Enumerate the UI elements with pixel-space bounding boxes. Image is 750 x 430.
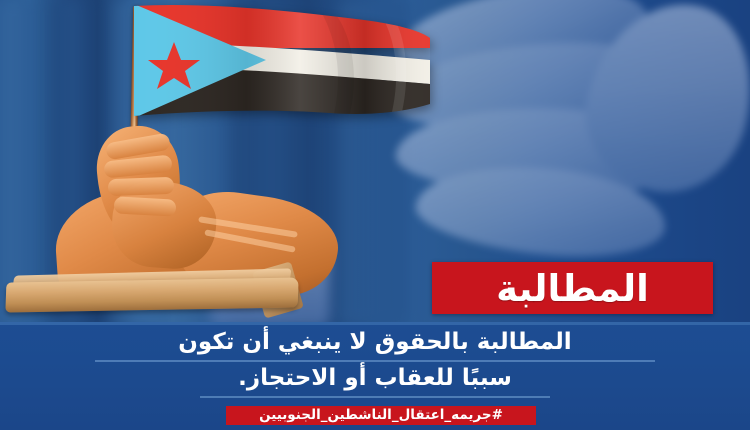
- headline-text: المطالبة: [496, 270, 649, 307]
- wooden-base: [5, 277, 298, 312]
- south-yemen-flag-icon: [134, 4, 430, 126]
- knuckle: [114, 196, 177, 216]
- headline-banner: المطالبة: [432, 262, 713, 314]
- knuckle: [108, 177, 175, 196]
- caption-line-1: المطالبة بالحقوق لا ينبغي أن تكون: [95, 326, 655, 362]
- poster-canvas: المطالبة المطالبة بالحقوق لا ينبغي أن تك…: [0, 0, 750, 430]
- caption-line-2: سببًا للعقاب أو الاحتجاز.: [200, 362, 550, 398]
- hashtag-text: #جريمه_اعتقال_الناشطين_الجنوبيين: [259, 409, 503, 423]
- ghost-hand-image: [390, 0, 750, 272]
- band-top-rule: [0, 322, 750, 325]
- hashtag-chip: #جريمه_اعتقال_الناشطين_الجنوبيين: [226, 406, 536, 425]
- caption-block: المطالبة بالحقوق لا ينبغي أن تكون سببًا …: [0, 326, 750, 398]
